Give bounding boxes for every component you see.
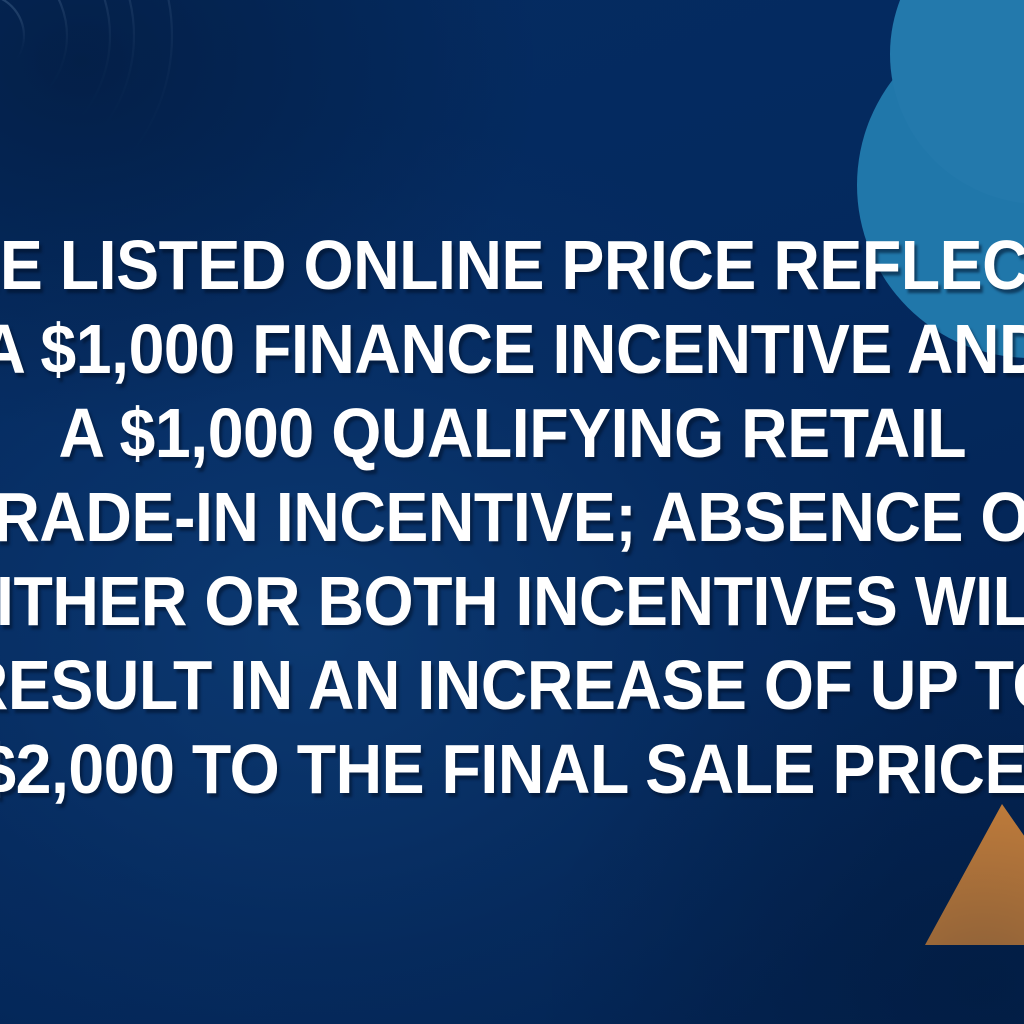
disclaimer-line: A $1,000 FINANCE INCENTIVE AND — [0, 307, 1024, 391]
disclaimer-line: RESULT IN AN INCREASE OF UP TO — [0, 643, 1024, 727]
disclaimer-line: $2,000 TO THE FINAL SALE PRICE. — [0, 727, 1024, 811]
disclaimer-line: A $1,000 QUALIFYING RETAIL — [58, 391, 966, 475]
disclaimer-line: THE LISTED ONLINE PRICE REFLECTS — [0, 223, 1024, 307]
disclaimer-line: EITHER OR BOTH INCENTIVES WILL — [0, 559, 1024, 643]
disclaimer-text-block: THE LISTED ONLINE PRICE REFLECTS A $1,00… — [0, 0, 1024, 1024]
disclaimer-line: TRADE-IN INCENTIVE; ABSENCE OF — [0, 475, 1024, 559]
promo-graphic: THE LISTED ONLINE PRICE REFLECTS A $1,00… — [0, 0, 1024, 1024]
